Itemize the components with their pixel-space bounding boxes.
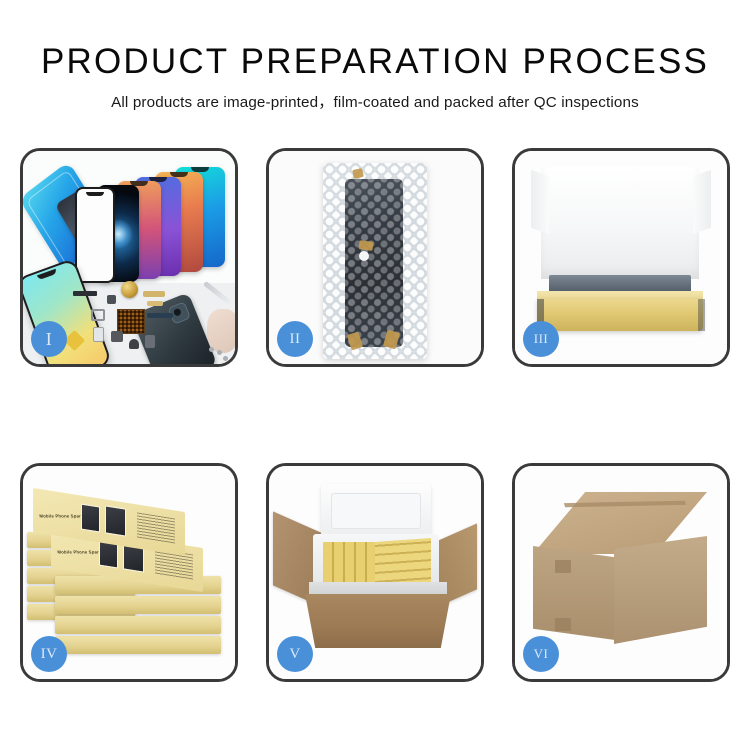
step-panel-1[interactable]: I: [20, 148, 238, 367]
spare-parts-cluster: [85, 283, 197, 355]
stacked-box: [55, 616, 221, 634]
wrapped-screen-part: [345, 179, 403, 347]
label-dot: [359, 251, 369, 261]
carton-tape-patch: [555, 618, 571, 631]
box-stack: Mobile Phone Spare Parts Mobile Phone Sp…: [27, 480, 233, 662]
connector-part: [145, 335, 155, 348]
shield-can-part: [111, 331, 123, 342]
step-panel-4[interactable]: Mobile Phone Spare Parts Mobile Phone Sp…: [20, 463, 238, 682]
carton-tape-patch: [555, 560, 571, 573]
screen-glass-panel: [75, 187, 115, 283]
step-badge-2: II: [277, 321, 313, 357]
white-box-lid: [541, 167, 699, 279]
product-preparation-process-page: PRODUCT PREPARATION PROCESS All products…: [0, 0, 750, 750]
step-badge-5: V: [277, 636, 313, 672]
tape-strip: [352, 168, 364, 179]
stacked-box: [55, 636, 221, 654]
step-panel-3[interactable]: III: [512, 148, 730, 367]
foam-box-lid: [321, 484, 431, 538]
carton-front-face: [305, 594, 451, 648]
flex-cable-part: [147, 301, 163, 306]
box-spec-lines: [137, 512, 175, 544]
step-badge-6: VI: [523, 636, 559, 672]
step-panel-2[interactable]: II: [266, 148, 484, 367]
tape-strip: [358, 240, 373, 251]
carton-left-face: [533, 546, 615, 640]
bracket-part: [91, 309, 105, 321]
lid-fold-right: [693, 170, 711, 235]
kraft-box-front: [537, 299, 703, 331]
screw-plate-part: [107, 295, 116, 304]
page-header: PRODUCT PREPARATION PROCESS All products…: [0, 0, 750, 113]
box-window-screen: [105, 505, 126, 536]
bubble-wrap-bag: [323, 163, 427, 359]
process-steps-grid: I II: [20, 148, 730, 688]
box-edge-right: [698, 299, 705, 331]
speaker-part: [121, 281, 138, 298]
earpiece-part: [73, 291, 97, 296]
page-subtitle: All products are image-printed，film-coat…: [0, 93, 750, 113]
flex-cable-part: [143, 291, 165, 297]
lid-fold-left: [531, 170, 549, 235]
taptic-part: [129, 339, 139, 349]
carton-right-face: [614, 536, 707, 644]
step-panel-5[interactable]: V: [266, 463, 484, 682]
step-badge-4: IV: [31, 636, 67, 672]
ribbon-cable-part: [147, 313, 173, 318]
phone-lineup: [89, 167, 235, 285]
sim-tray-part: [93, 327, 104, 342]
step-panel-6[interactable]: VI: [512, 463, 730, 682]
stacked-box: [55, 596, 221, 614]
box-window-screen: [81, 504, 100, 533]
step-badge-3: III: [523, 321, 559, 357]
step-badge-1: I: [31, 321, 67, 357]
loose-screws: [209, 347, 229, 361]
page-title: PRODUCT PREPARATION PROCESS: [0, 40, 750, 84]
